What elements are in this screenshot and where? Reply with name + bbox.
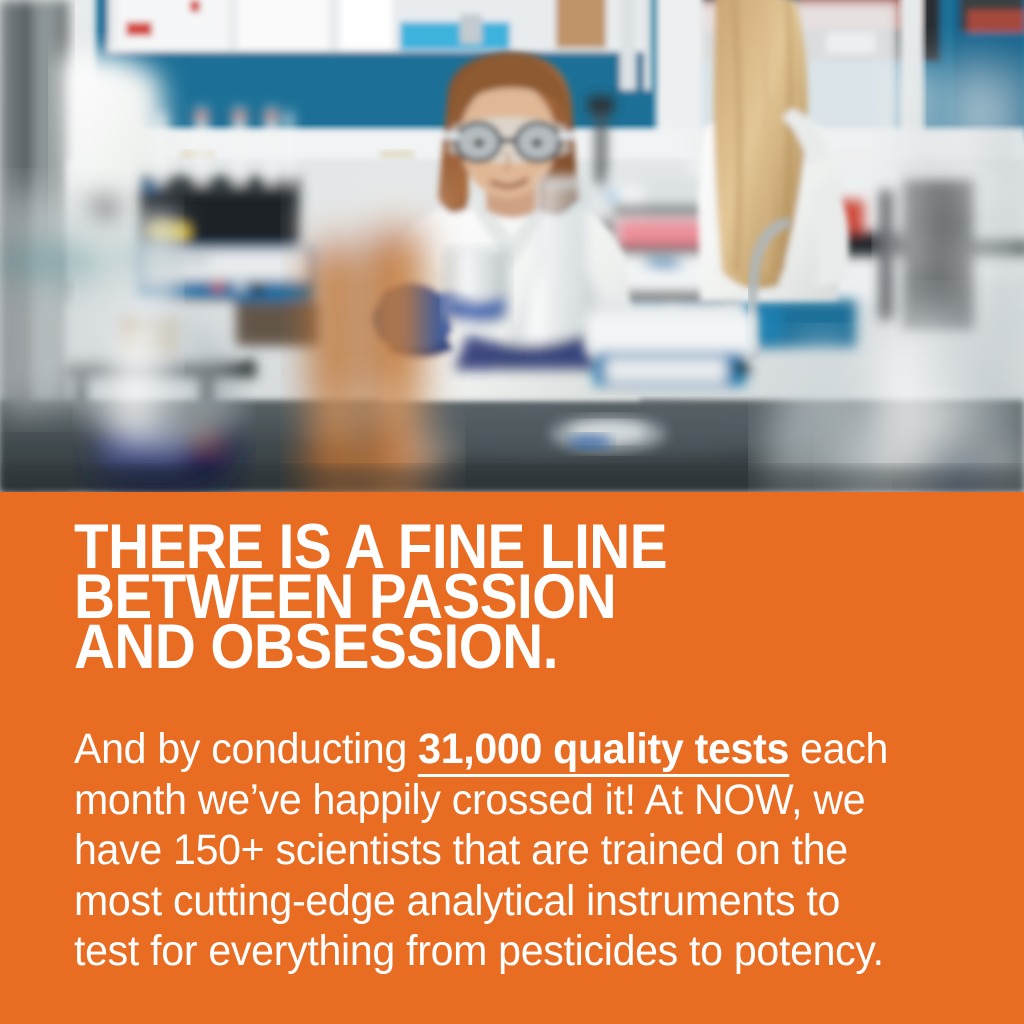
body-line-1-suffix: each [789, 725, 888, 773]
quality-tests-stat: 31,000 quality tests [418, 725, 789, 777]
beaker-blue [446, 250, 508, 327]
body-line-1-prefix: And by conducting [74, 725, 418, 773]
body-line-4: most cutting-edge analytical instruments… [74, 876, 914, 927]
body-line-1: And by conducting 31,000 quality tests e… [74, 724, 914, 775]
laboratory-photo-illustration [0, 0, 1024, 492]
body-line-2: month we’ve happily crossed it! At NOW, … [74, 775, 914, 826]
promo-card: THERE IS A FINE LINE BETWEEN PASSION AND… [0, 0, 1024, 1024]
body-line-5: test for everything from pesticides to p… [74, 926, 914, 977]
body-copy: And by conducting 31,000 quality tests e… [74, 724, 914, 977]
analytical-balance [586, 300, 756, 386]
headline: THERE IS A FINE LINE BETWEEN PASSION AND… [74, 522, 884, 672]
body-line-3: have 150+ scientists that are trained on… [74, 825, 914, 876]
headline-line-3: AND OBSESSION. [74, 622, 884, 672]
orange-text-panel: THERE IS A FINE LINE BETWEEN PASSION AND… [0, 492, 1024, 1024]
laboratory-photo [0, 0, 1024, 492]
